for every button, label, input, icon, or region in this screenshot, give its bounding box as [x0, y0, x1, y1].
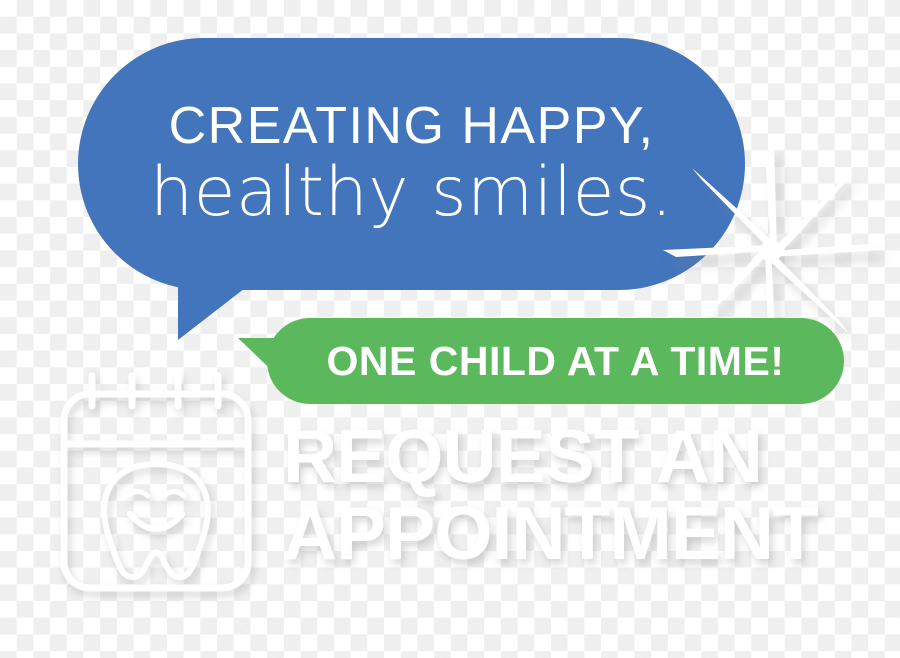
watermark-cta-line1: REQUEST AN: [283, 414, 762, 498]
blue-speech-bubble: CREATING HAPPY, healthy smiles.: [70, 30, 760, 350]
request-appointment-watermark-text: REQUEST AN APPOINTMENT: [283, 418, 883, 572]
headline-line-1: CREATING HAPPY,: [169, 97, 655, 155]
watermark-cta-line2: APPOINTMENT: [283, 495, 883, 572]
green-speech-bubble: ONE CHILD AT A TIME!: [236, 318, 851, 410]
promo-banner-canvas: REQUEST AN APPOINTMENT CREATING HAPPY, h…: [0, 0, 900, 658]
calendar-with-smiling-tooth-icon: [58, 372, 254, 594]
blue-bubble-text: CREATING HAPPY, healthy smiles.: [78, 38, 745, 290]
headline-line-2: healthy smiles.: [150, 153, 673, 233]
green-bubble-label: ONE CHILD AT A TIME!: [267, 318, 844, 404]
